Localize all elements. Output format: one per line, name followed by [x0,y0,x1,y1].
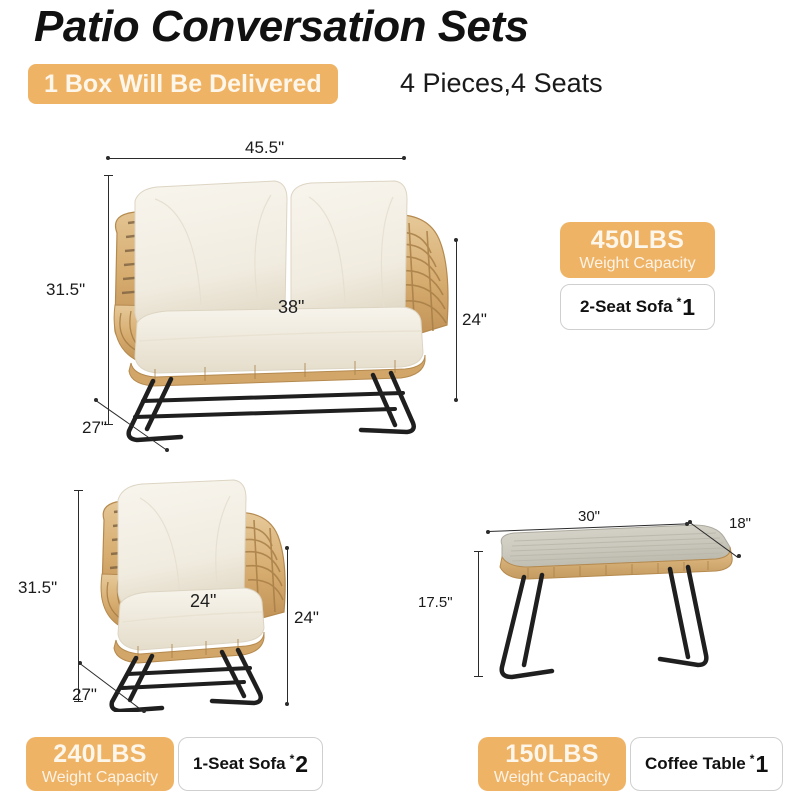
loveseat-width-label: 45.5" [245,138,284,158]
capacity-orange-150lbs: 150LBS Weight Capacity [478,737,626,791]
capacity-item-2-seat-sofa: 2-Seat Sofa * 1 [560,284,715,330]
capacity-lbs-value: 450LBS [591,227,685,253]
capacity-item-count: 1 [755,751,768,778]
table-depth-label: 18" [729,515,751,532]
capacity-subtitle: Weight Capacity [579,254,695,273]
capacity-orange-450lbs: 450LBS Weight Capacity [560,222,715,278]
loveseat-height-label: 31.5" [46,280,85,300]
capacity-lbs-value: 150LBS [505,741,599,767]
armchair-height-label: 31.5" [18,578,57,598]
loveseat-depth-label: 27" [82,418,107,438]
capacity-item-name: 1-Seat Sofa [193,754,286,774]
armchair-seat-height-label: 24" [294,608,319,628]
armchair-illustration [88,462,298,712]
capacity-item-coffee-table: Coffee Table * 1 [630,737,783,791]
capacity-block-2-seat-sofa: 450LBS Weight Capacity 2-Seat Sofa * 1 [560,222,715,330]
table-width-label: 30" [578,508,600,525]
page-title: Patio Conversation Sets [34,2,529,52]
table-height-label: 17.5" [418,594,453,611]
capacity-star-icon: * [677,295,682,309]
delivery-badge: 1 Box Will Be Delivered [28,64,338,104]
capacity-lbs-value: 240LBS [53,741,147,767]
capacity-star-icon: * [750,752,755,766]
delivery-badge-label: 1 Box Will Be Delivered [44,70,322,99]
capacity-item-name: 2-Seat Sofa [580,297,673,317]
capacity-subtitle: Weight Capacity [494,768,610,787]
capacity-item-count: 2 [295,751,308,778]
product-infographic: Patio Conversation Sets 1 Box Will Be De… [0,0,800,800]
capacity-block-1-seat-sofa: 240LBS Weight Capacity 1-Seat Sofa * 2 [26,737,323,791]
capacity-item-name: Coffee Table [645,754,746,774]
capacity-item-count: 1 [682,294,695,321]
armchair-depth-label: 27" [72,685,97,705]
capacity-orange-240lbs: 240LBS Weight Capacity [26,737,174,791]
pieces-seats-text: 4 Pieces,4 Seats [400,68,603,99]
capacity-star-icon: * [290,752,295,766]
loveseat-seat-height-label: 24" [462,310,487,330]
loveseat-seat-width-label: 38" [278,297,304,318]
armchair-seat-width-label: 24" [190,591,216,612]
capacity-item-1-seat-sofa: 1-Seat Sofa * 2 [178,737,323,791]
coffee-table-illustration [480,515,750,695]
capacity-subtitle: Weight Capacity [42,768,158,787]
capacity-block-coffee-table: 150LBS Weight Capacity Coffee Table * 1 [478,737,783,791]
